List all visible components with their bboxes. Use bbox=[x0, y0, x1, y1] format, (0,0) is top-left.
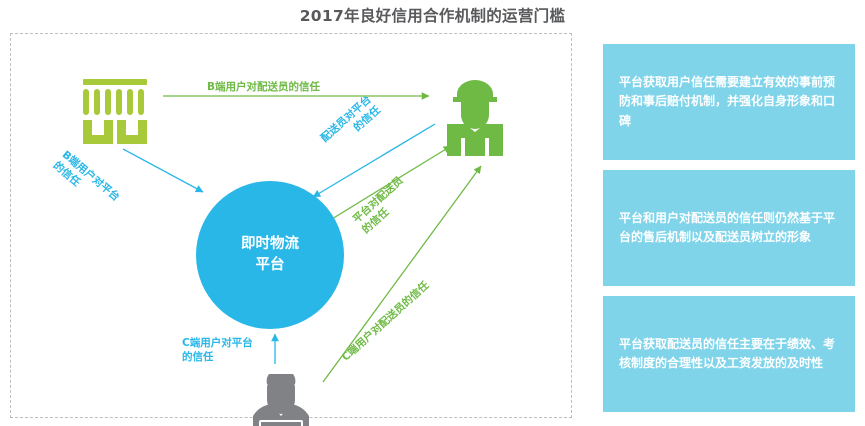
hub-circle: 即时物流 平台 bbox=[196, 181, 344, 329]
insight-panel-2-text: 平台和用户对配送员的信任则仍然基于平台的售后机制以及配送员树立的形象 bbox=[619, 209, 839, 248]
page-title: 2017年良好信用合作机制的运营门槛 bbox=[0, 4, 865, 26]
delivery-courier-icon bbox=[439, 74, 511, 156]
insight-panel-1: 平台获取用户信任需要建立有效的事前预防和事后赔付机制，并强化自身形象和口碑 bbox=[603, 44, 855, 160]
insight-panel-1-text: 平台获取用户信任需要建立有效的事前预防和事后赔付机制，并强化自身形象和口碑 bbox=[619, 73, 839, 131]
edge-label-b-to-rider: B端用户对配送员的信任 bbox=[207, 80, 320, 94]
insight-panel-2: 平台和用户对配送员的信任则仍然基于平台的售后机制以及配送员树立的形象 bbox=[603, 170, 855, 286]
hub-label: 即时物流 平台 bbox=[241, 234, 299, 276]
diagram-frame: 即时物流 平台 B端用户对配送员的信任 B端用户对平台 的信任 配送员对平台 的… bbox=[10, 33, 572, 418]
insight-panel-3: 平台获取配送员的信任主要在于绩效、考核制度的合理性以及工资发放的及时性 bbox=[603, 296, 855, 412]
edge-label-c-to-platform: C端用户对平台 的信任 bbox=[182, 336, 253, 364]
arrow-b-to-platform bbox=[123, 149, 203, 192]
insight-panels: 平台获取用户信任需要建立有效的事前预防和事后赔付机制，并强化自身形象和口碑 平台… bbox=[603, 44, 855, 412]
infographic-root: 2017年良好信用合作机制的运营门槛 bbox=[0, 0, 865, 426]
user-with-laptop-icon bbox=[239, 370, 323, 426]
storefront-icon bbox=[77, 75, 153, 145]
insight-panel-3-text: 平台获取配送员的信任主要在于绩效、考核制度的合理性以及工资发放的及时性 bbox=[619, 335, 839, 374]
